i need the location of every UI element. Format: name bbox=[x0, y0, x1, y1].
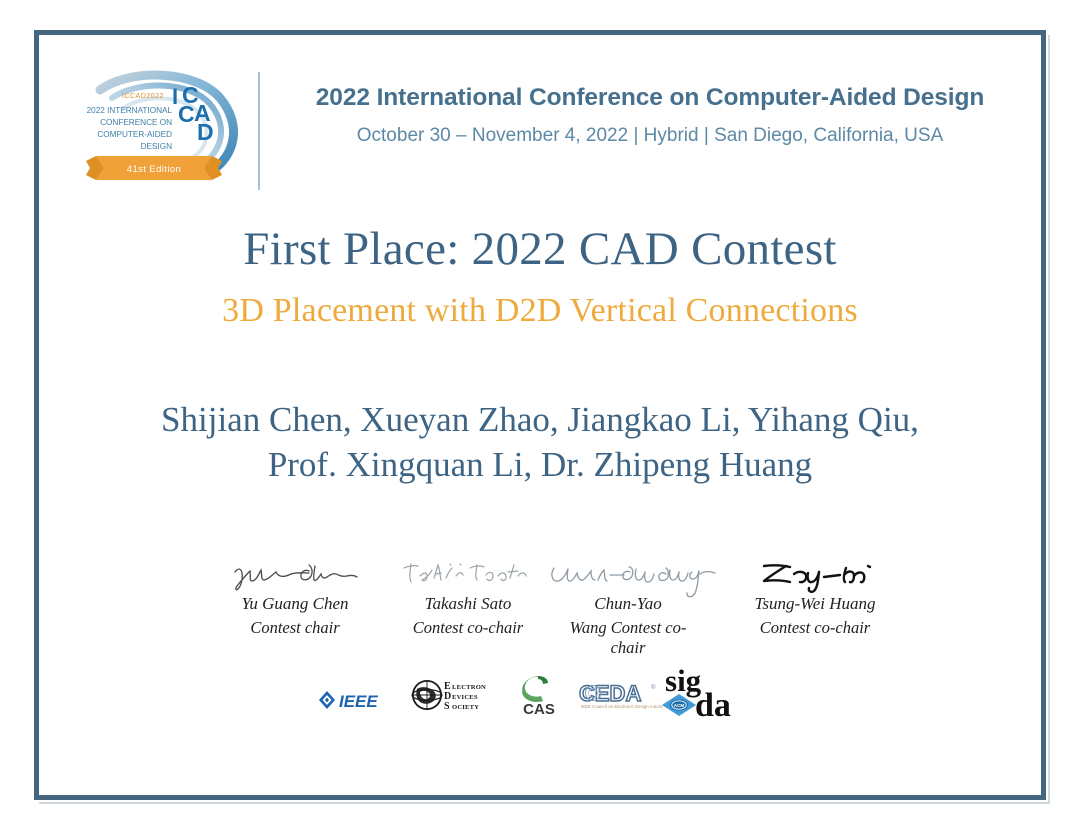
svg-text:EVICES: EVICES bbox=[452, 694, 478, 701]
award-subtitle: 3D Placement with D2D Vertical Connectio… bbox=[0, 292, 1080, 330]
signature-row: Yu Guang Chen Contest chair bbox=[200, 560, 900, 670]
signatory-role: Contest chair bbox=[215, 618, 375, 638]
signature-block: Chun-Yao Wang Contest co-chair bbox=[548, 560, 708, 658]
handwritten-signature-icon bbox=[548, 560, 708, 596]
svg-text:D: D bbox=[197, 119, 214, 145]
acm-sigda-logo: sig da ACM bbox=[657, 663, 749, 726]
svg-text:OCIETY: OCIETY bbox=[452, 704, 479, 711]
signatory-name: Yu Guang Chen bbox=[215, 594, 375, 615]
handwritten-signature-icon bbox=[388, 560, 548, 596]
signatory-role: Wang Contest co-chair bbox=[569, 618, 687, 658]
signature-block: Yu Guang Chen Contest chair bbox=[215, 560, 375, 638]
svg-text:DESIGN: DESIGN bbox=[141, 142, 172, 151]
svg-text:C: C bbox=[178, 101, 195, 127]
ieee-ceda-logo: CEDA ® IEEE Council on Electronic Design… bbox=[577, 681, 663, 716]
sponsor-logo-row: IEEE E LECTRON D EVICES bbox=[312, 666, 772, 728]
signatory-name: Tsung-Wei Huang bbox=[735, 594, 895, 615]
svg-text:CONFERENCE ON: CONFERENCE ON bbox=[100, 118, 172, 127]
header-divider bbox=[258, 72, 260, 190]
award-title: First Place: 2022 CAD Contest bbox=[0, 222, 1080, 276]
ieee-cas-logo: CAS bbox=[512, 671, 566, 722]
author-line-2: Prof. Xingquan Li, Dr. Zhipeng Huang bbox=[0, 443, 1080, 488]
svg-text:ACM: ACM bbox=[674, 703, 685, 708]
iccad-logo-graphic: I C C A D ICCAD2022 2022 INTERNATIONAL C… bbox=[60, 64, 256, 184]
signature-block: Takashi Sato Contest co-chair bbox=[388, 560, 548, 638]
ieee-electron-devices-society-logo: E LECTRON D EVICES S OCIETY bbox=[408, 677, 500, 718]
svg-text:IEEE Council on Electronic Des: IEEE Council on Electronic Design Automa… bbox=[581, 704, 663, 709]
author-line-1: Shijian Chen, Xueyan Zhao, Jiangkao Li, … bbox=[0, 398, 1080, 443]
iccad-logo: I C C A D ICCAD2022 2022 INTERNATIONAL C… bbox=[60, 64, 256, 184]
header-text: 2022 International Conference on Compute… bbox=[280, 84, 1020, 147]
handwritten-signature-icon bbox=[735, 560, 895, 596]
signatory-role: Contest co-chair bbox=[735, 618, 895, 638]
certificate-page: I C C A D ICCAD2022 2022 INTERNATIONAL C… bbox=[0, 0, 1080, 829]
author-list: Shijian Chen, Xueyan Zhao, Jiangkao Li, … bbox=[0, 398, 1080, 488]
svg-text:da: da bbox=[695, 687, 731, 721]
svg-text:LECTRON: LECTRON bbox=[452, 684, 486, 691]
handwritten-signature-icon bbox=[215, 560, 375, 596]
conference-title: 2022 International Conference on Compute… bbox=[280, 84, 1020, 112]
signatory-role: Contest co-chair bbox=[409, 618, 527, 638]
svg-text:COMPUTER-AIDED: COMPUTER-AIDED bbox=[97, 130, 172, 139]
signature-block: Tsung-Wei Huang Contest co-chair bbox=[735, 560, 895, 638]
conference-details: October 30 – November 4, 2022 | Hybrid |… bbox=[280, 125, 1020, 147]
svg-text:41st Edition: 41st Edition bbox=[127, 164, 181, 175]
svg-text:®: ® bbox=[651, 684, 656, 691]
svg-text:S: S bbox=[444, 701, 450, 712]
svg-text:CAS: CAS bbox=[523, 701, 555, 717]
svg-text:IEEE: IEEE bbox=[339, 692, 378, 711]
svg-text:ICCAD2022: ICCAD2022 bbox=[122, 93, 164, 100]
ieee-logo: IEEE bbox=[318, 689, 398, 716]
svg-text:2022 INTERNATIONAL: 2022 INTERNATIONAL bbox=[87, 106, 173, 115]
signatory-name: Takashi Sato bbox=[409, 594, 527, 615]
header: I C C A D ICCAD2022 2022 INTERNATIONAL C… bbox=[50, 62, 1030, 192]
